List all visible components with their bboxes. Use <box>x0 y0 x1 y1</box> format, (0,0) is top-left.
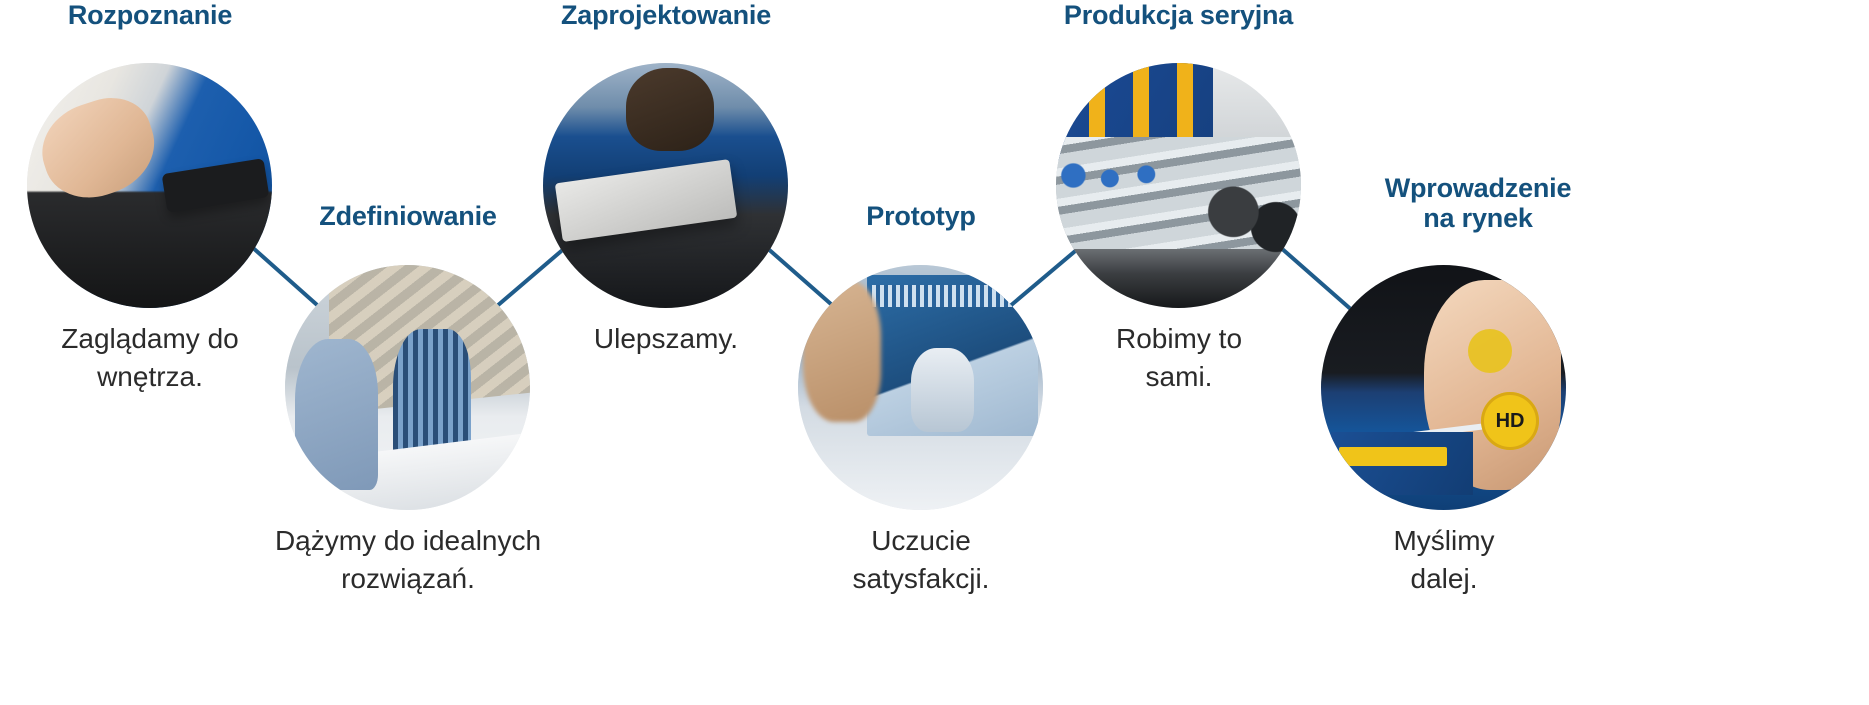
step-prototyp-image <box>798 265 1043 510</box>
step-rozpoznanie-image <box>27 63 272 308</box>
step-produkcja-seryjna-title: Produkcja seryjna <box>1031 0 1326 30</box>
step-wprowadzenie-na-rynek-image: HD <box>1321 265 1566 510</box>
photo-detail-blue-label <box>1331 432 1473 496</box>
photo-detail-dark-bodies <box>1198 161 1301 288</box>
production-line-shock-absorbers-photo <box>1056 63 1301 308</box>
step-zaprojektowanie-image <box>543 63 788 308</box>
process-diagram: Rozpoznanie Zaglądamy do wnętrza. Zdefin… <box>0 0 1869 705</box>
step-wprowadzenie-na-rynek-caption: Myślimy dalej. <box>1303 522 1585 598</box>
photo-detail-sticker-back <box>1468 329 1512 373</box>
step-rozpoznanie-title: Rozpoznanie <box>20 0 280 30</box>
step-produkcja-seryjna-caption: Robimy to sami. <box>1038 320 1320 396</box>
step-zdefiniowanie-caption: Dążymy do idealnych rozwiązań. <box>250 522 566 598</box>
step-zaprojektowanie-title: Zaprojektowanie <box>525 0 807 30</box>
mechanic-with-laptop-on-engine-photo <box>543 63 788 308</box>
step-wprowadzenie-na-rynek-title: Wprowadzenie na rynek <box>1330 173 1626 233</box>
step-produkcja-seryjna-image <box>1056 63 1301 308</box>
mechanic-with-tablet-inspecting-car-photo <box>27 63 272 308</box>
photo-detail-toolbar <box>872 285 1034 307</box>
cad-model-on-machine-screen-photo <box>798 265 1043 510</box>
step-rozpoznanie-caption: Zaglądamy do wnętrza. <box>10 320 290 396</box>
hd-sticker-icon: HD <box>1481 392 1539 450</box>
step-zaprojektowanie-caption: Ulepszamy. <box>525 320 807 358</box>
step-prototyp-title: Prototyp <box>805 201 1037 231</box>
step-prototyp-caption: Uczucie satysfakcji. <box>780 522 1062 598</box>
photo-detail-blue-caps <box>1056 146 1198 205</box>
hand-applying-hd-sticker-to-box-photo: HD <box>1321 265 1566 510</box>
step-zdefiniowanie-image <box>285 265 530 510</box>
step-zdefiniowanie-title: Zdefiniowanie <box>290 201 526 231</box>
photo-detail-3d-part <box>911 348 975 431</box>
photo-detail-keyboard <box>571 177 701 224</box>
team-reviewing-drawings-at-table-photo <box>285 265 530 510</box>
